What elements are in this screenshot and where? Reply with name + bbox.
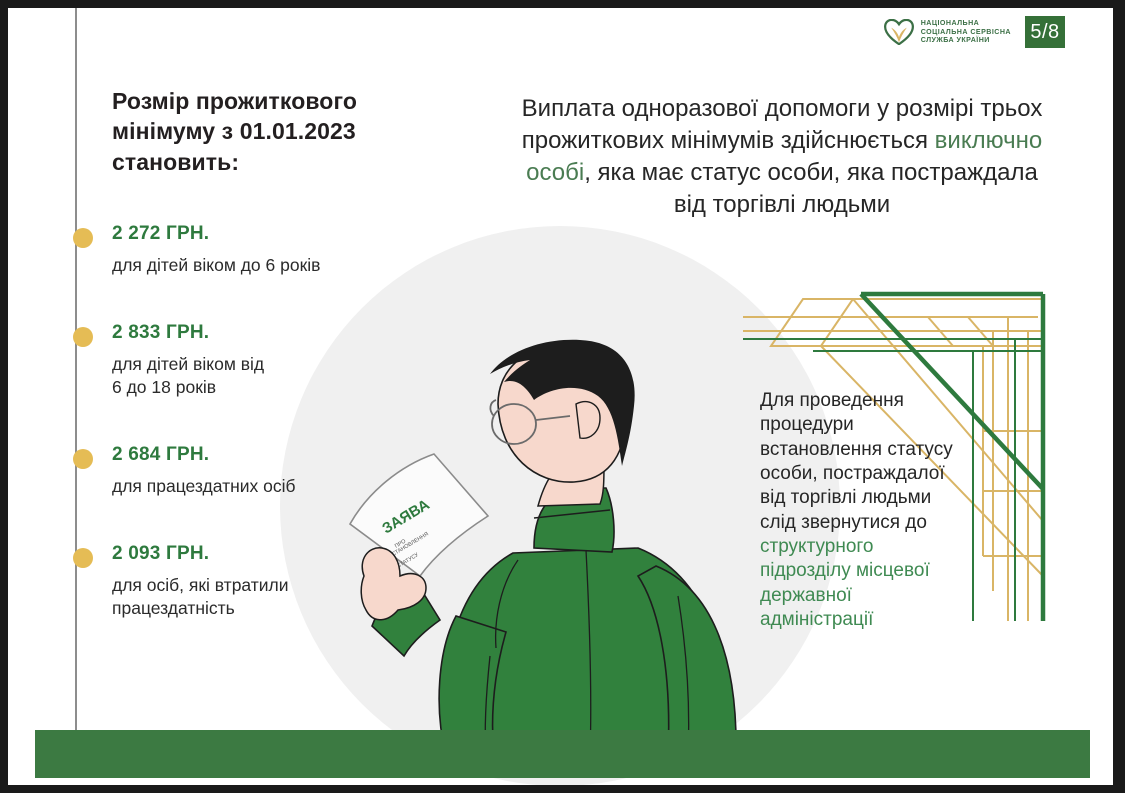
logo-line-1: НАЦІОНАЛЬНА (921, 19, 1011, 27)
timeline-dot-icon (73, 548, 93, 568)
logo-line-3: СЛУЖБА УКРАЇНИ (921, 36, 1011, 44)
list-item: 2 272 ГРН. для дітей віком до 6 років (112, 223, 442, 278)
page-title: Розмір прожиткового мінімуму з 01.01.202… (112, 86, 442, 177)
person-reading-application-illustration: ЗАЯВА ПРО ВСТАНОВЛЕННЯ СТАТУСУ (338, 338, 778, 758)
procedure-note-highlight: структурного підрозділу місцевої державн… (760, 536, 930, 630)
slide-frame: НАЦІОНАЛЬНА СОЦІАЛЬНА СЕРВІСНА СЛУЖБА УК… (0, 0, 1125, 793)
procedure-note: Для проведення процедури встановлення ст… (760, 389, 965, 632)
logo-line-2: СОЦІАЛЬНА СЕРВІСНА (921, 28, 1011, 36)
timeline-dot-icon (73, 449, 93, 469)
page-indicator-badge: 5/8 (1025, 16, 1065, 48)
timeline-vertical-line (75, 8, 77, 746)
list-item-amount: 2 272 ГРН. (112, 223, 442, 245)
bottom-green-bar (35, 730, 1090, 778)
heart-logo-icon (884, 19, 914, 45)
procedure-note-part1: Для проведення процедури встановлення ст… (760, 390, 953, 533)
slide-header: НАЦІОНАЛЬНА СОЦІАЛЬНА СЕРВІСНА СЛУЖБА УК… (884, 16, 1065, 48)
organization-logo: НАЦІОНАЛЬНА СОЦІАЛЬНА СЕРВІСНА СЛУЖБА УК… (884, 19, 1011, 45)
organization-logo-text: НАЦІОНАЛЬНА СОЦІАЛЬНА СЕРВІСНА СЛУЖБА УК… (921, 19, 1011, 44)
timeline-dot-icon (73, 228, 93, 248)
right-heading: Виплата одноразової допомоги у розмірі т… (518, 93, 1046, 221)
list-item-description: для дітей віком до 6 років (112, 254, 442, 278)
slide-page: НАЦІОНАЛЬНА СОЦІАЛЬНА СЕРВІСНА СЛУЖБА УК… (8, 8, 1113, 785)
timeline-dot-icon (73, 327, 93, 347)
right-heading-part2: , яка має статус особи, яка постраждала … (584, 159, 1038, 218)
